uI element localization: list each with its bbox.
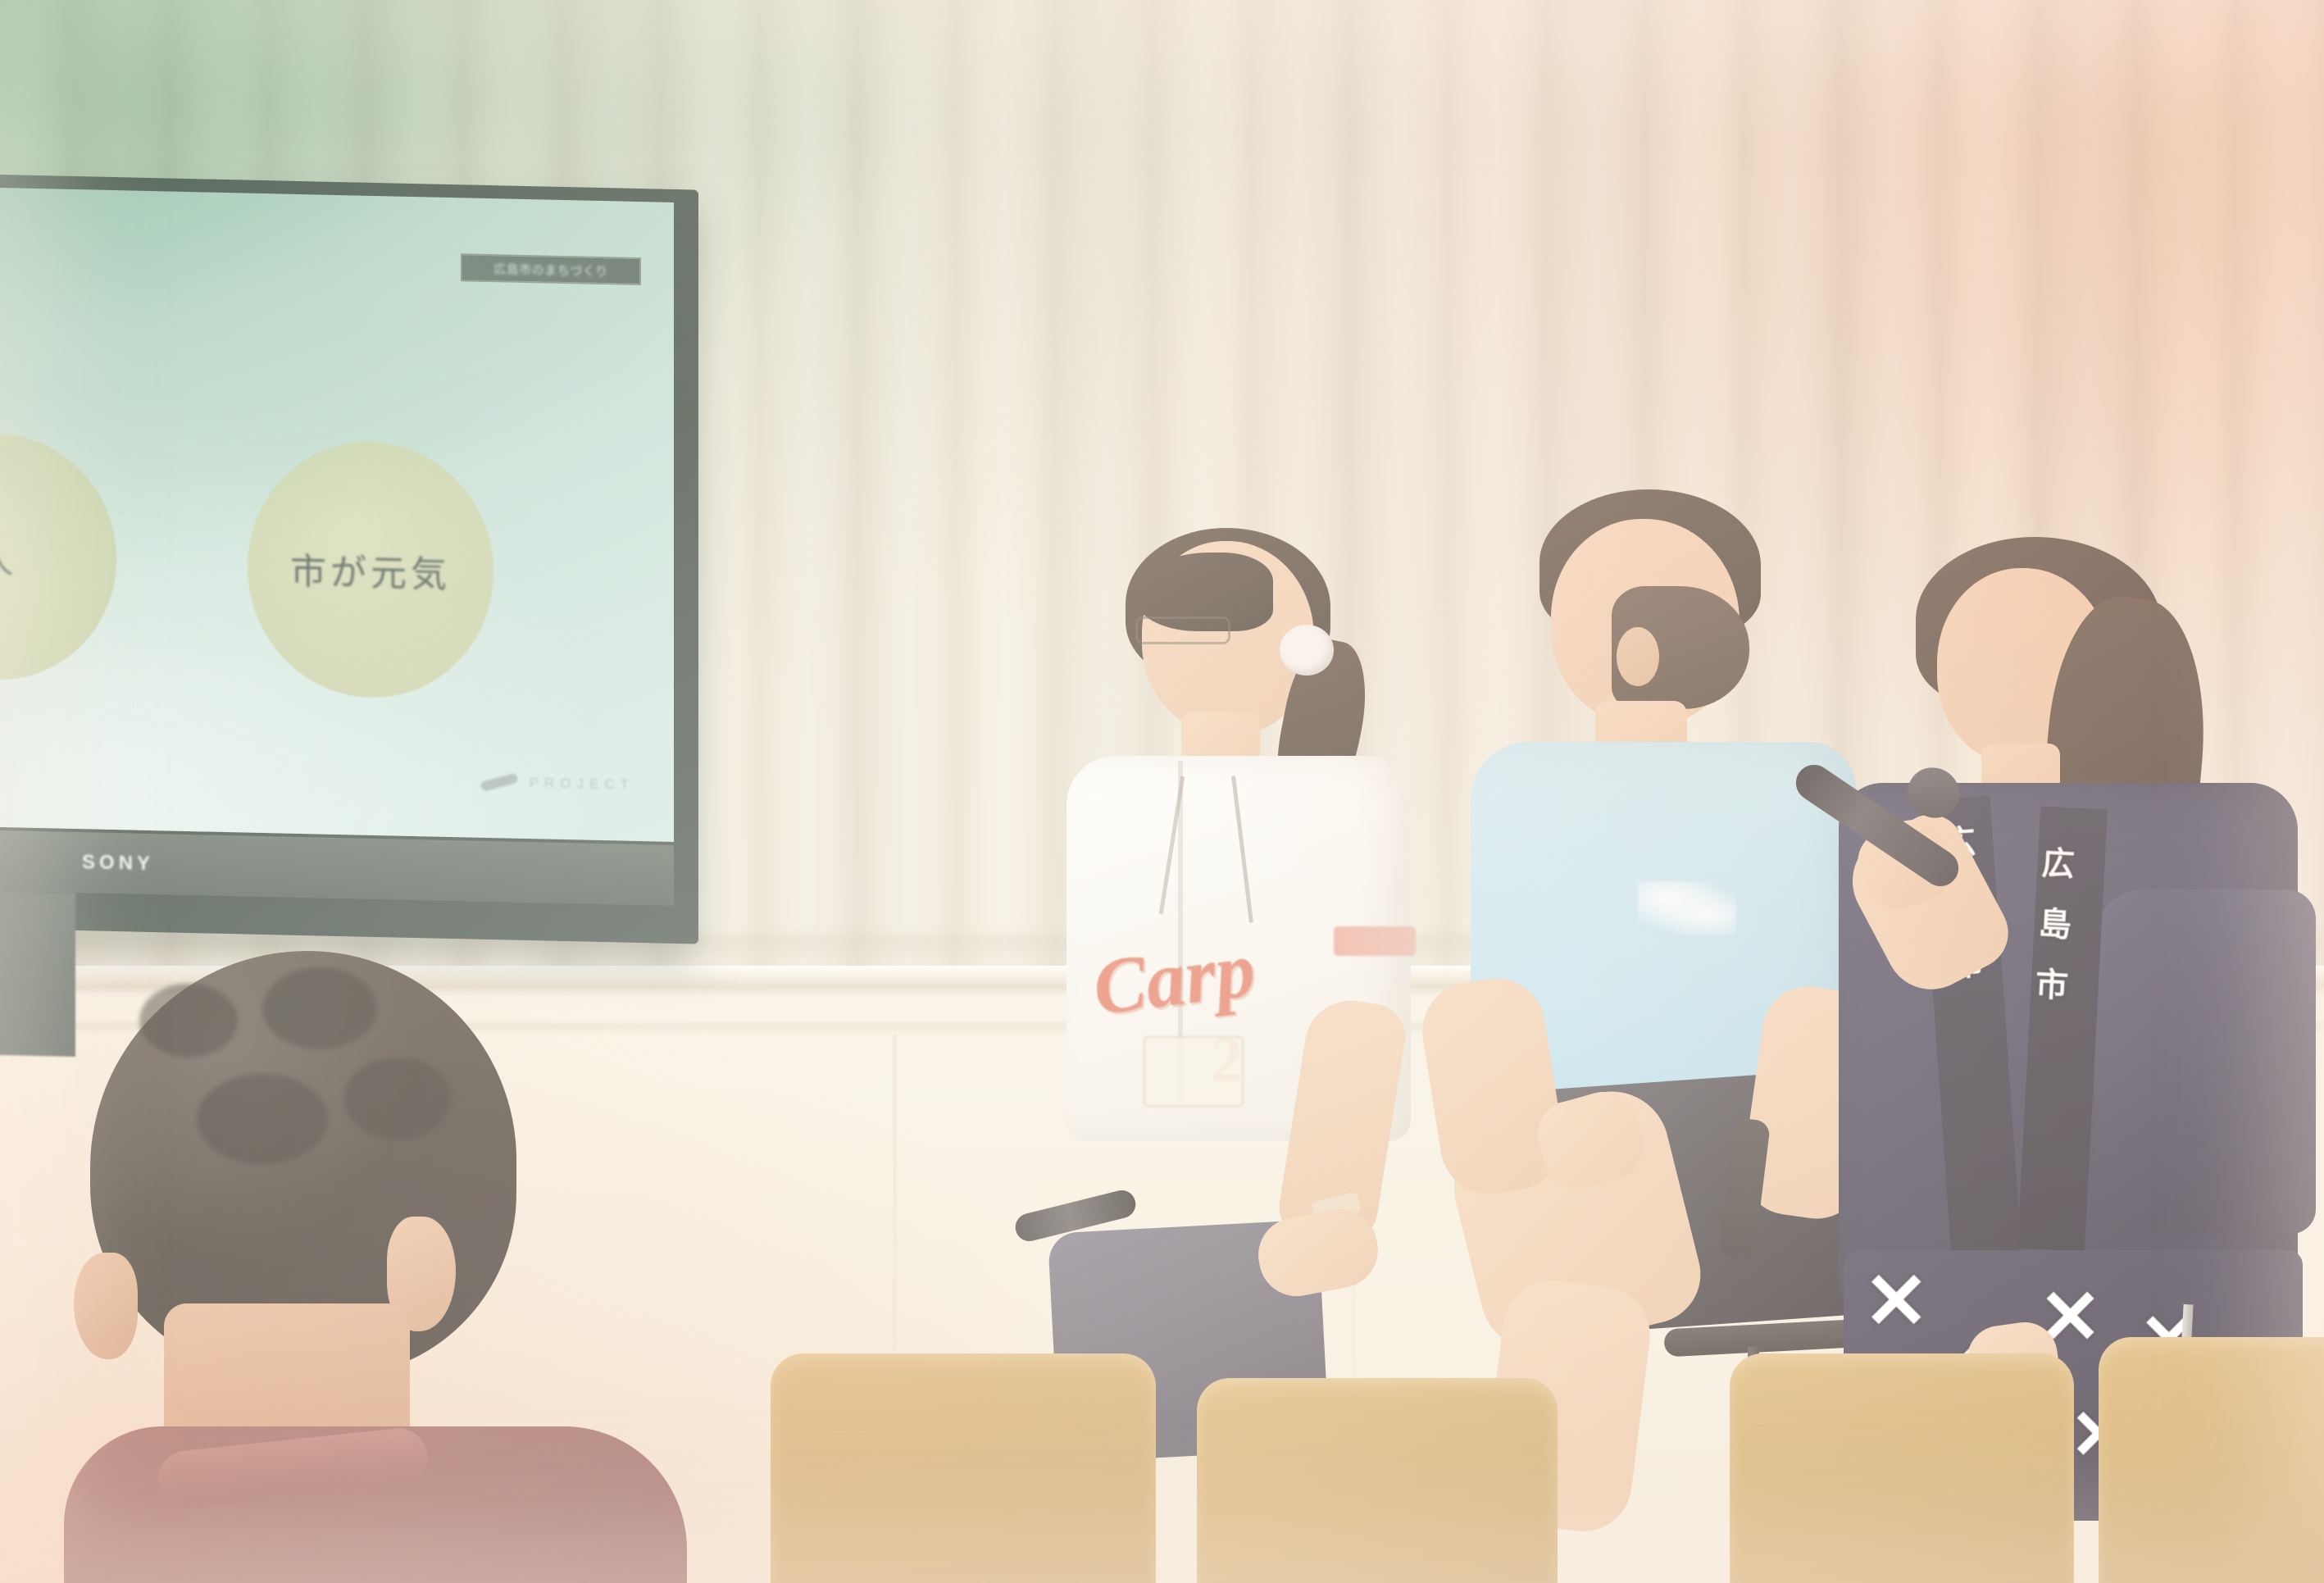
presentation-display: 広島市のまちづくり 人 市が元気 PROJECT SONY <box>0 174 698 944</box>
slide-bubble: 市が元気 <box>248 439 493 701</box>
empty-chair <box>771 1353 1156 1583</box>
hair-curl <box>344 1058 451 1139</box>
hair-curl <box>139 984 238 1058</box>
slide-banner: 広島市のまちづくり <box>461 253 641 285</box>
hair-curl <box>262 967 377 1049</box>
jersey-sleeve-patch <box>1334 926 1416 956</box>
hair-scrunchie <box>1280 625 1334 676</box>
slide-banner-text: 広島市のまちづくり <box>493 260 608 280</box>
wall-panel-seam <box>894 1035 896 1379</box>
name-badge <box>1144 1036 1244 1107</box>
ear <box>1617 627 1659 686</box>
empty-chair <box>1197 1378 1558 1583</box>
hair-curl <box>197 1074 328 1164</box>
audience-member-foreground <box>16 951 672 1583</box>
sony-brand-logo: SONY <box>82 851 154 876</box>
empty-chair <box>2099 1337 2324 1583</box>
empty-chair <box>1730 1353 2074 1583</box>
slide-bubble-label: 市が元気 <box>290 542 451 598</box>
slide-logo: PROJECT <box>480 774 634 794</box>
slide-screen: 広島市のまちづくり 人 市が元気 PROJECT <box>0 188 674 842</box>
happi-kanji: 市 <box>2035 958 2070 1007</box>
slide-bubble-label: 人 <box>0 530 18 583</box>
photograph-canvas: 広島市のまちづくり 人 市が元気 PROJECT SONY <box>0 0 2324 1583</box>
happi-sleeve <box>2094 889 2316 1234</box>
happi-kanji: 島 <box>2038 897 2073 946</box>
shirt-chest-graphic <box>1638 881 1736 935</box>
glasses <box>1135 616 1230 644</box>
ear-left <box>74 1253 138 1359</box>
slide-logo-wordmark: PROJECT <box>530 775 634 794</box>
happi-pattern-x: ✕ <box>1863 1255 1929 1347</box>
brush-stroke-icon <box>480 773 519 792</box>
happi-kanji: 広 <box>2040 836 2076 885</box>
panelist-carp-jersey: Carp 2 <box>1021 541 1480 1451</box>
slide-bubble: 人 <box>0 431 116 682</box>
